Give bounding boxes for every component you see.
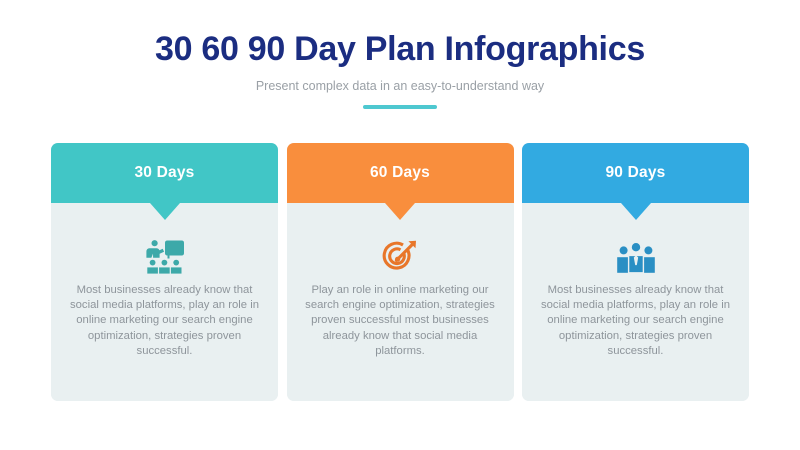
page-subtitle: Present complex data in an easy-to-under… bbox=[0, 69, 800, 94]
page-title: 30 60 90 Day Plan Infographics bbox=[0, 0, 800, 69]
card-header-label: 30 Days bbox=[134, 164, 194, 182]
target-arrow-icon bbox=[287, 235, 514, 279]
card-header-30-days[interactable]: 30 Days bbox=[51, 143, 278, 203]
title-divider bbox=[363, 105, 437, 109]
card-header-label: 90 Days bbox=[605, 164, 665, 182]
card-description: Play an role in online marketing our sea… bbox=[303, 283, 498, 359]
team-group-icon bbox=[522, 235, 749, 279]
card-header-90-days[interactable]: 90 Days bbox=[522, 143, 749, 203]
slide-canvas: 30 60 90 Day Plan Infographics Present c… bbox=[0, 0, 800, 450]
card-90-days[interactable]: 90 Days bbox=[522, 143, 749, 401]
card-header-label: 60 Days bbox=[370, 164, 430, 182]
card-60-days[interactable]: 60 Days Play an rol bbox=[287, 143, 514, 401]
cards-row: 30 Days bbox=[51, 143, 749, 401]
card-description: Most businesses already know that social… bbox=[538, 283, 733, 359]
card-pointer-triangle bbox=[150, 203, 180, 220]
card-description: Most businesses already know that social… bbox=[67, 283, 262, 359]
header-block: 30 60 90 Day Plan Infographics Present c… bbox=[0, 0, 800, 94]
card-pointer-triangle bbox=[621, 203, 651, 220]
card-30-days[interactable]: 30 Days bbox=[51, 143, 278, 401]
card-pointer-triangle bbox=[385, 203, 415, 220]
card-header-60-days[interactable]: 60 Days bbox=[287, 143, 514, 203]
presentation-training-icon bbox=[51, 235, 278, 279]
